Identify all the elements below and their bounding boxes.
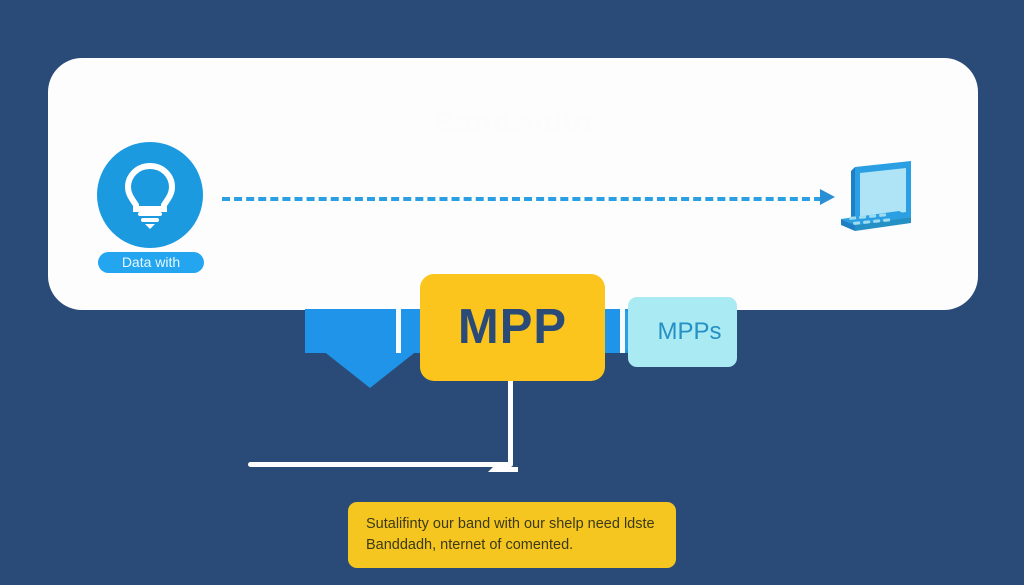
- mpp-node-label: MPP: [458, 303, 567, 352]
- dashed-flow-line: [222, 197, 822, 201]
- funnel-shape-icon: [322, 350, 418, 388]
- band-tick-left: [396, 309, 401, 353]
- diagram-canvas: Bandwidth Data with: [0, 0, 1024, 585]
- connector-corner: [488, 442, 518, 472]
- caption-box: Sutalifinty our band with our shelp need…: [348, 502, 676, 568]
- mpps-node-label: MPPs: [643, 320, 721, 344]
- source-pill-label: Data with: [98, 252, 204, 273]
- lightbulb-badge: [97, 142, 203, 248]
- lightbulb-icon: [119, 160, 181, 230]
- connector-horizontal: [248, 462, 513, 467]
- source-node[interactable]: Data with: [97, 142, 207, 272]
- mpps-node[interactable]: MPPs: [628, 297, 737, 367]
- caption-line-1: Sutalifinty our band with our shelp need…: [366, 514, 658, 535]
- mpp-node[interactable]: MPP: [420, 274, 605, 381]
- caption-line-2: Banddadh, nternet of comented.: [366, 535, 658, 556]
- laptop-icon: [833, 157, 919, 247]
- card-title: Bandwidth: [48, 106, 978, 140]
